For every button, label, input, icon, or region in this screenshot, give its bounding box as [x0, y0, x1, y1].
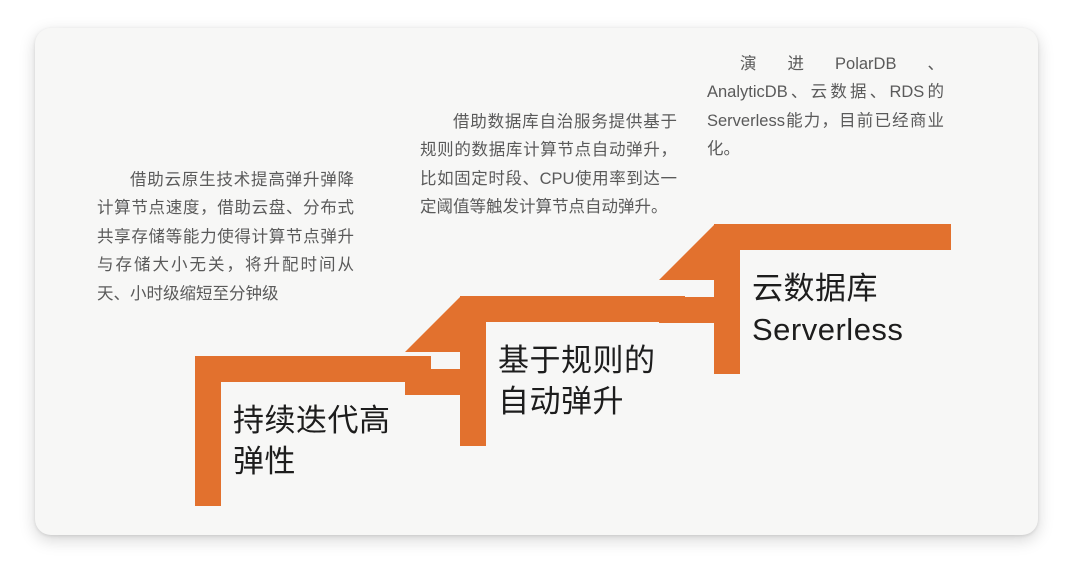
step-3-title: 云数据库 Serverless: [752, 268, 992, 350]
step-3-description: 演进PolarDB、AnalyticDB、云数据、RDS的Serverless能…: [707, 50, 944, 164]
screenshot-root: 持续迭代高 弹性 借助云原生技术提高弹升弹降计算节点速度，借助云盘、分布式共享存…: [0, 0, 1080, 579]
step-3-stub-bar: [659, 297, 715, 323]
step-2-description: 借助数据库自治服务提供基于规则的数据库计算节点自动弹升，比如固定时段、CPU使用…: [420, 108, 677, 222]
step-2-arrow-triangle: [405, 296, 461, 352]
step-2-stub-bar: [405, 369, 461, 395]
step-1-left-bar: [195, 356, 221, 506]
step-2-top-bar: [460, 296, 685, 322]
step-2-title: 基于规则的 自动弹升: [498, 340, 728, 422]
diagram-card: 持续迭代高 弹性 借助云原生技术提高弹升弹降计算节点速度，借助云盘、分布式共享存…: [35, 28, 1038, 535]
step-2-left-bar: [460, 296, 486, 446]
step-1-description: 借助云原生技术提高弹升弹降计算节点速度，借助云盘、分布式共享存储等能力使得计算节…: [97, 166, 354, 308]
step-3-top-bar: [714, 224, 951, 250]
step-3-arrow-triangle: [659, 224, 715, 280]
step-1-title: 持续迭代高 弹性: [233, 400, 463, 482]
step-1-top-bar: [195, 356, 431, 382]
step-3-left-bar: [714, 224, 740, 374]
